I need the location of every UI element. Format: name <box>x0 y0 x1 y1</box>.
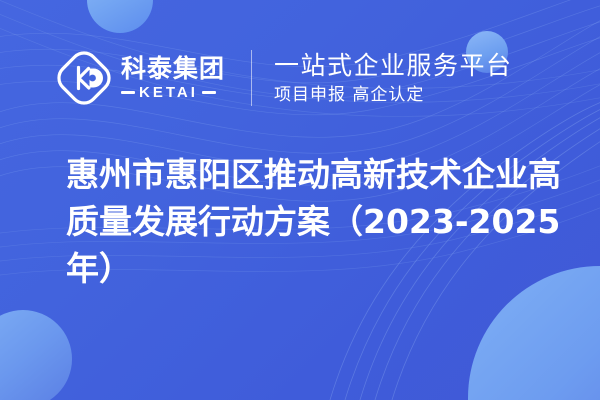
brand-name-en: KETAI <box>139 85 198 100</box>
brand-logo-text: 科泰集团 KETAI <box>121 56 225 100</box>
logo-dash-right-icon <box>202 91 216 94</box>
brand-slogan: 一站式企业服务平台 项目申报 高企认定 <box>274 51 513 105</box>
article-cover-banner: 科泰集团 KETAI 一站式企业服务平台 项目申报 高企认定 惠州市惠阳区推动高… <box>0 0 600 400</box>
banner-header: 科泰集团 KETAI 一站式企业服务平台 项目申报 高企认定 <box>0 40 600 116</box>
brand-name-cn: 科泰集团 <box>121 56 225 82</box>
ketai-diamond-monogram-logo-icon <box>56 50 112 106</box>
circle-bottom-left-decoration <box>0 310 72 400</box>
slogan-sub-text: 项目申报 高企认定 <box>274 85 513 105</box>
circle-top-left-decoration <box>87 0 153 33</box>
header-divider <box>251 50 252 106</box>
slogan-main-text: 一站式企业服务平台 <box>274 51 513 81</box>
brand-name-en-row: KETAI <box>121 85 225 100</box>
logo-dash-left-icon <box>121 91 135 94</box>
banner-title: 惠州市惠阳区推动高新技术企业高质量发展行动方案（2023-2025年） <box>66 152 566 293</box>
brand-logo[interactable]: 科泰集团 KETAI <box>56 50 225 106</box>
